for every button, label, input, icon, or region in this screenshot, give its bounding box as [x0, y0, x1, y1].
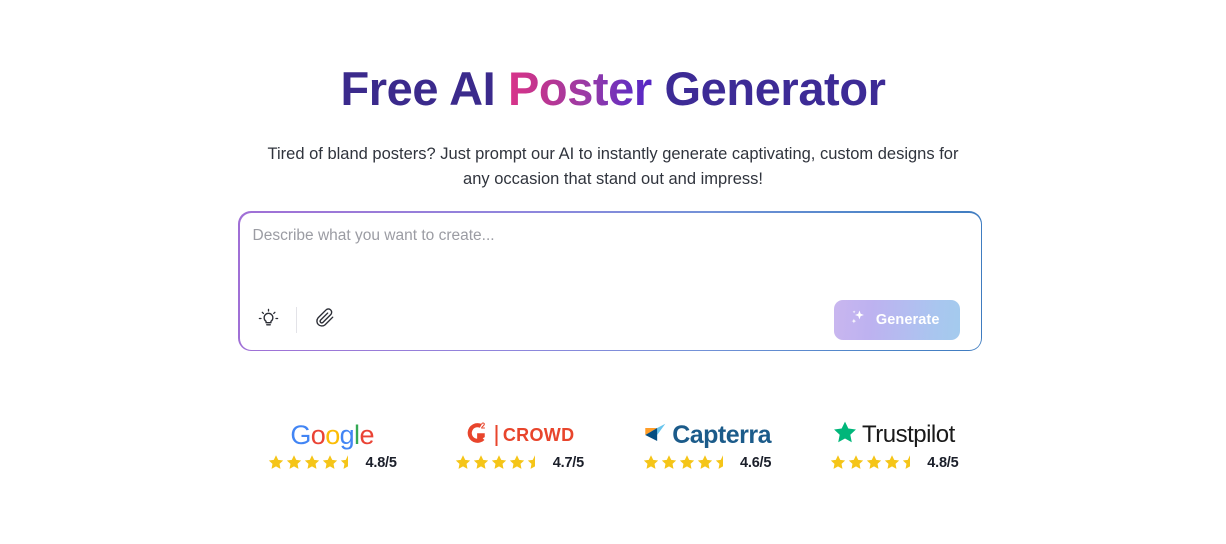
capterra-wordmark: Capterra — [642, 420, 771, 451]
rating-item-google: Google 4.8/5 — [268, 420, 397, 471]
prompt-input[interactable] — [253, 225, 953, 291]
lightbulb-icon — [258, 308, 279, 332]
rating-score-capterra: 4.6/5 — [740, 455, 771, 471]
paperclip-icon — [314, 307, 336, 332]
star-rating-capterra — [642, 454, 731, 471]
g2crowd-logo: 2 CROWD — [464, 420, 574, 450]
page-subtitle: Tired of bland posters? Just prompt our … — [263, 142, 963, 192]
generate-button-label: Generate — [876, 312, 940, 328]
rating-item-g2crowd: 2 CROWD 4.7/5 — [455, 420, 584, 471]
rating-score-trustpilot: 4.8/5 — [927, 455, 958, 471]
trustpilot-text: Trustpilot — [862, 421, 955, 449]
g2crowd-wordmark: 2 CROWD — [464, 420, 574, 451]
rating-row-google: 4.8/5 — [268, 454, 397, 471]
star-rating-g2crowd — [455, 454, 544, 471]
page-title-segment-generator: Generator — [652, 62, 886, 115]
rating-row-g2crowd: 4.7/5 — [455, 454, 584, 471]
toolbar-divider — [296, 307, 297, 333]
landing-page: Free AI Poster Generator Tired of bland … — [0, 0, 1226, 544]
generate-button[interactable]: Generate — [834, 300, 960, 340]
page-title-segment-free: Free AI — [340, 62, 507, 115]
rating-item-capterra: Capterra 4.6/5 — [642, 420, 771, 471]
rating-row-trustpilot: 4.8/5 — [829, 454, 958, 471]
prompt-toolbar: Generate — [240, 290, 981, 350]
trustpilot-star-icon — [833, 420, 858, 450]
g2-divider — [495, 425, 498, 446]
attach-button[interactable] — [310, 305, 340, 335]
page-title: Free AI Poster Generator — [0, 60, 1226, 118]
rating-item-trustpilot: Trustpilot 4.8/5 — [829, 420, 958, 471]
prompt-composer: Generate — [238, 211, 982, 351]
rating-score-g2crowd: 4.7/5 — [553, 455, 584, 471]
google-wordmark: Google — [290, 420, 374, 451]
rating-score-google: 4.8/5 — [366, 455, 397, 471]
page-title-segment-poster: Poster — [508, 62, 652, 115]
rating-row-capterra: 4.6/5 — [642, 454, 771, 471]
google-logo: Google — [290, 420, 374, 450]
sparkles-icon — [849, 308, 868, 331]
ratings-strip: Google 4.8/5 — [268, 420, 959, 471]
idea-button[interactable] — [254, 305, 284, 335]
trustpilot-logo: Trustpilot — [833, 420, 955, 450]
prompt-composer-inner: Generate — [240, 213, 981, 350]
g2-mark-icon: 2 — [464, 420, 490, 451]
capterra-mark-icon — [642, 420, 668, 451]
trustpilot-wordmark: Trustpilot — [833, 420, 955, 450]
capterra-logo: Capterra — [642, 420, 771, 450]
star-rating-trustpilot — [829, 454, 918, 471]
svg-text:2: 2 — [481, 421, 486, 430]
capterra-text: Capterra — [672, 421, 771, 450]
g2-crowd-text: CROWD — [503, 425, 575, 446]
star-rating-google — [268, 454, 357, 471]
